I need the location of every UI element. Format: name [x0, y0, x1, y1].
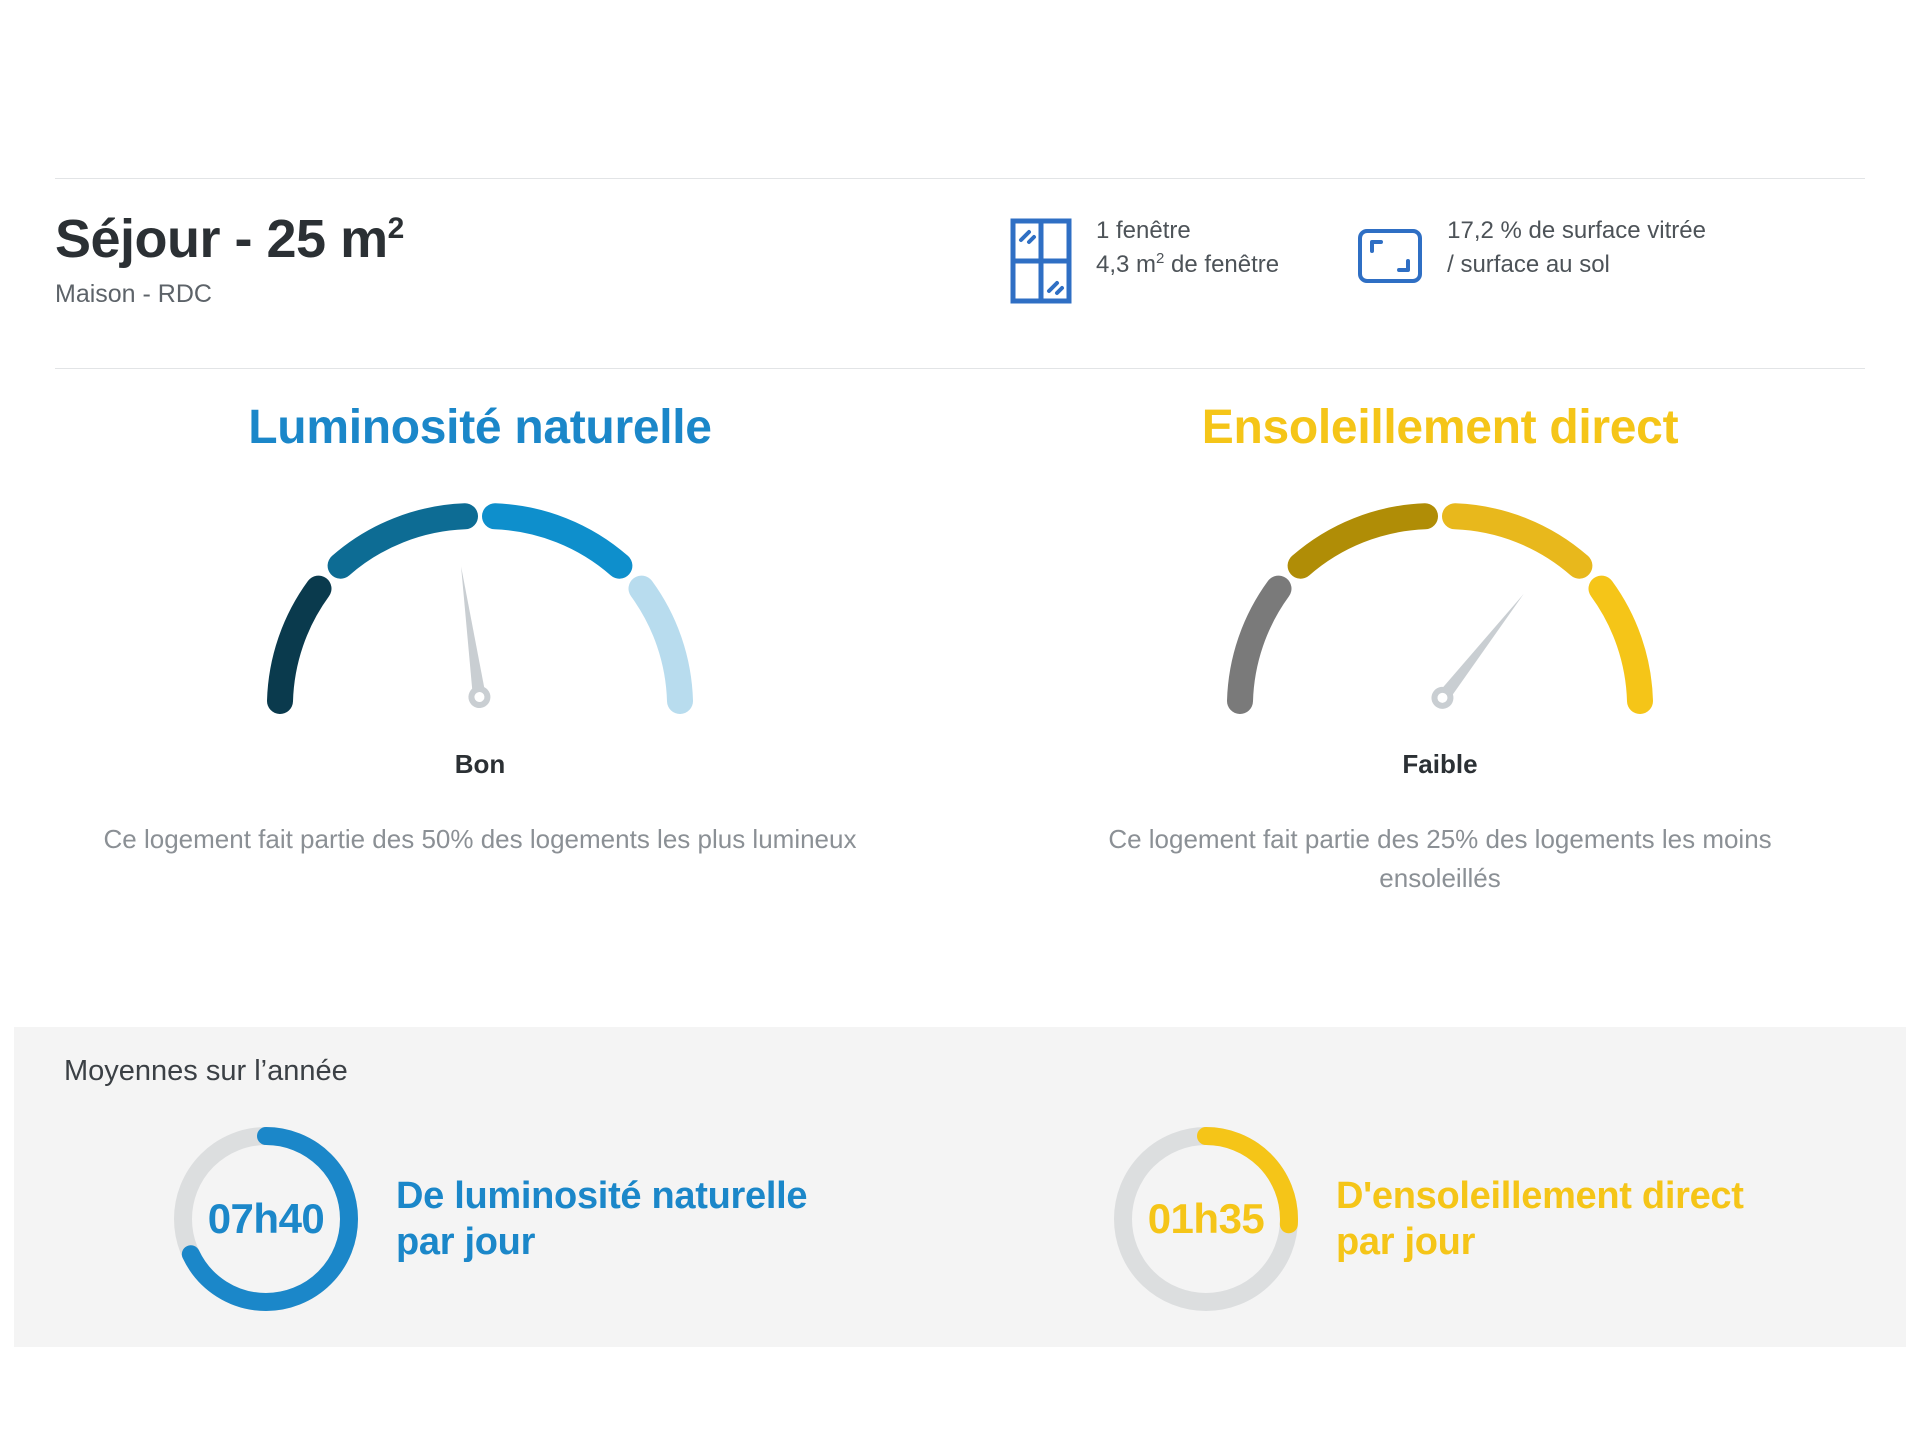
gauge-segment-tres-faible	[280, 589, 319, 701]
average-label-sunlight-line1: D'ensoleillement direct	[1336, 1173, 1744, 1219]
fact-glazing-ratio-denominator: / surface au sol	[1447, 248, 1706, 282]
gauge-title-sunlight: Ensoleillement direct	[1202, 400, 1679, 455]
donut-luminosity: 07h40	[166, 1119, 366, 1319]
average-label-sunlight: D'ensoleillement direct par jour	[1336, 1173, 1744, 1266]
donut-value-sunlight: 01h35	[1106, 1119, 1306, 1319]
gauge-rating-sunlight: Faible	[1402, 749, 1477, 780]
fact-windows-area-value: 4,3 m	[1096, 251, 1156, 278]
average-label-luminosity-line1: De luminosité naturelle	[396, 1173, 807, 1219]
gauge-segment-tres-faible	[1240, 589, 1279, 701]
glazing-ratio-icon	[1357, 228, 1423, 284]
fact-glazing-ratio: 17,2 % de surface vitrée / surface au so…	[1357, 214, 1706, 284]
gauge-description-luminosity: Ce logement fait partie des 50% des loge…	[85, 820, 875, 859]
fact-windows-area-unit: de fenêtre	[1164, 251, 1279, 278]
gauge-segment-faible	[1301, 516, 1425, 565]
window-icon	[1010, 218, 1072, 304]
average-label-luminosity-line2: par jour	[396, 1219, 807, 1265]
room-title-text: Séjour - 25 m	[55, 209, 388, 269]
gauge-segment-faible	[341, 516, 465, 565]
room-light-report: Séjour - 25 m2 Maison - RDC	[0, 0, 1920, 1440]
fact-windows: 1 fenêtre 4,3 m2 de fenêtre	[1010, 214, 1279, 304]
fact-glazing-ratio-value: 17,2 % de surface vitrée	[1447, 214, 1706, 248]
room-title-exponent: 2	[388, 212, 404, 245]
average-label-luminosity: De luminosité naturelle par jour	[396, 1173, 807, 1266]
gauge-segment-tres-bon	[642, 589, 681, 701]
header-facts: 1 fenêtre 4,3 m2 de fenêtre 17,2 % de su…	[1010, 214, 1706, 304]
average-label-sunlight-line2: par jour	[1336, 1219, 1744, 1265]
gauge-needle-sunlight	[1427, 587, 1532, 713]
gauge-title-luminosity: Luminosité naturelle	[248, 400, 711, 455]
gauges-section: Luminosité naturelle Bon	[0, 400, 1920, 898]
gauge-segment-bon	[1455, 516, 1579, 565]
gauge-luminosity	[220, 469, 740, 719]
gauge-sunlight	[1180, 469, 1700, 719]
averages-band: Moyennes sur l’année 07h40 De luminosité…	[14, 1027, 1906, 1347]
gauge-segment-bon	[495, 516, 619, 565]
gauge-segment-tres-bon	[1602, 589, 1641, 701]
gauge-card-luminosity: Luminosité naturelle Bon	[0, 400, 960, 898]
donut-sunlight: 01h35	[1106, 1119, 1306, 1319]
average-item-luminosity: 07h40 De luminosité naturelle par jour	[14, 1119, 966, 1319]
gauge-card-sunlight: Ensoleillement direct Fai	[960, 400, 1920, 898]
fact-windows-area: 4,3 m2 de fenêtre	[1096, 248, 1279, 282]
fact-glazing-ratio-text: 17,2 % de surface vitrée / surface au so…	[1447, 214, 1706, 282]
header-divider-top	[55, 178, 1865, 179]
fact-windows-count: 1 fenêtre	[1096, 214, 1279, 248]
gauge-description-sunlight: Ce logement fait partie des 25% des loge…	[1045, 820, 1835, 898]
averages-rows: 07h40 De luminosité naturelle par jour 0…	[14, 1119, 1906, 1319]
gauge-rating-luminosity: Bon	[455, 749, 506, 780]
average-item-sunlight: 01h35 D'ensoleillement direct par jour	[966, 1119, 1906, 1319]
averages-title: Moyennes sur l’année	[64, 1055, 348, 1088]
gauge-needle-luminosity	[450, 565, 492, 710]
header-divider-bottom	[55, 368, 1865, 369]
fact-windows-text: 1 fenêtre 4,3 m2 de fenêtre	[1096, 214, 1279, 282]
donut-value-luminosity: 07h40	[166, 1119, 366, 1319]
